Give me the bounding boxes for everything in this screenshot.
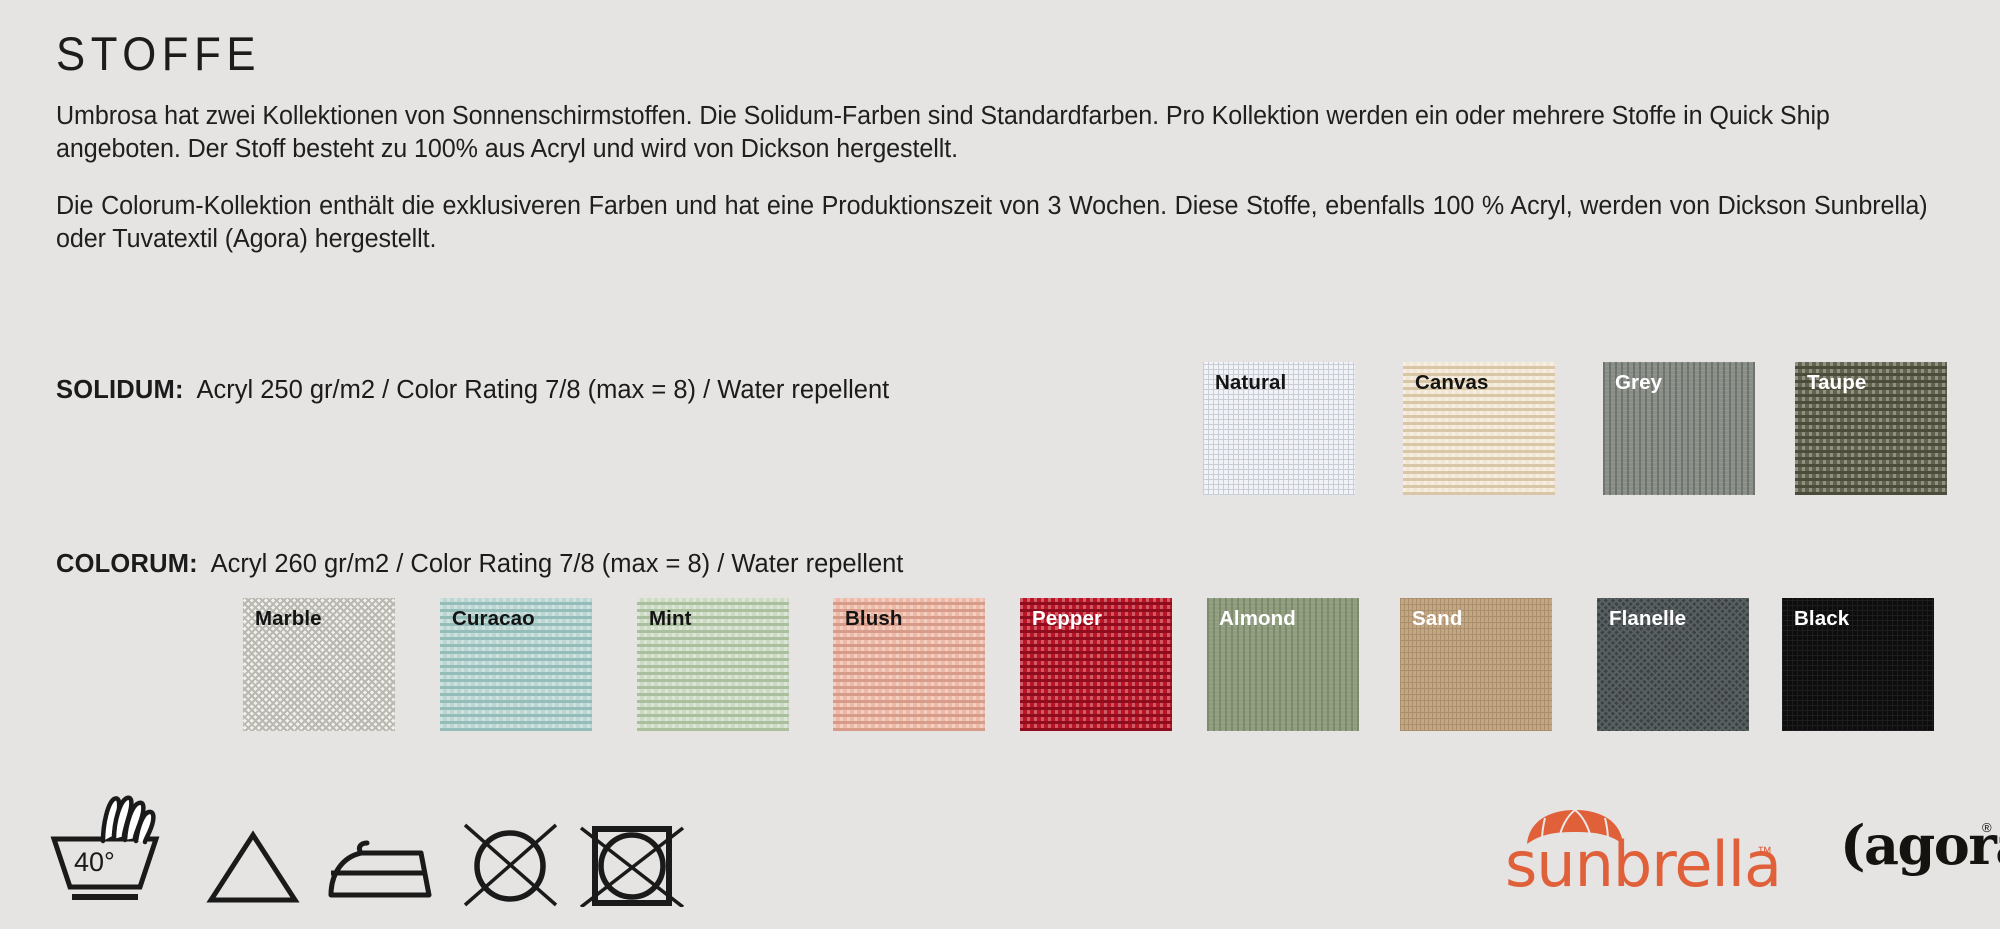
swatch-label: Black [1794,609,1934,630]
swatch-label: Sand [1412,609,1552,630]
swatch-canvas[interactable]: Canvas [1403,362,1555,495]
sunbrella-logo: sunbrella ™ [1505,812,1815,898]
solidum-spec-text: Acryl 250 gr/m2 / Color Rating 7/8 (max … [184,376,890,404]
intro-paragraph-2: Die Colorum-Kollektion enthält die exklu… [56,190,1928,256]
hand-wash-temperature-label: 40° [74,847,115,877]
swatch-pepper[interactable]: Pepper [1020,598,1172,731]
bleach-triangle-icon [203,795,303,912]
solidum-separator: : [175,376,184,404]
swatch-blush[interactable]: Blush [833,598,985,731]
colorum-spec-text: Acryl 260 gr/m2 / Color Rating 7/8 (max … [198,550,904,578]
swatch-label: Almond [1219,609,1359,630]
swatch-label: Natural [1215,373,1355,394]
swatch-label: Pepper [1032,609,1172,630]
swatch-grey[interactable]: Grey [1603,362,1755,495]
colorum-collection-name: COLORUM [56,550,189,578]
iron-icon [313,795,438,912]
agora-registered-mark: ® [1982,820,1992,835]
swatch-label: Taupe [1807,373,1947,394]
swatch-curacao[interactable]: Curacao [440,598,592,731]
swatch-label: Curacao [452,609,592,630]
swatch-label: Canvas [1415,373,1555,394]
agora-wordmark: (agora) [1840,818,2000,872]
hand-wash-40-icon: 40° [48,795,166,912]
swatch-flanelle[interactable]: Flanelle [1597,598,1749,731]
fabric-spec-page: STOFFE Umbrosa hat zwei Kollektionen von… [0,0,2000,929]
do-not-tumble-dry-icon [573,795,693,912]
swatch-sand[interactable]: Sand [1400,598,1552,731]
swatch-label: Mint [649,609,789,630]
colorum-spec-line: COLORUM: Acryl 260 gr/m2 / Color Rating … [56,549,903,579]
swatch-marble[interactable]: Marble [243,598,395,731]
swatch-label: Grey [1615,373,1755,394]
solidum-collection-name: SOLIDUM [56,376,175,404]
swatch-almond[interactable]: Almond [1207,598,1359,731]
swatch-label: Marble [255,609,395,630]
sunbrella-wordmark: sunbrella [1505,834,1781,896]
solidum-spec-line: SOLIDUM: Acryl 250 gr/m2 / Color Rating … [56,375,889,405]
sunbrella-trademark: ™ [1757,844,1772,861]
swatch-mint[interactable]: Mint [637,598,789,731]
agora-logo: (agora) ® [1840,818,2000,896]
do-not-dry-clean-icon [453,795,568,912]
swatch-black[interactable]: Black [1782,598,1934,731]
page-title: STOFFE [56,30,261,77]
swatch-natural[interactable]: Natural [1203,362,1355,495]
swatch-label: Blush [845,609,985,630]
intro-paragraph-1: Umbrosa hat zwei Kollektionen von Sonnen… [56,100,1926,166]
colorum-separator: : [189,550,198,578]
swatch-label: Flanelle [1609,609,1749,630]
swatch-taupe[interactable]: Taupe [1795,362,1947,495]
